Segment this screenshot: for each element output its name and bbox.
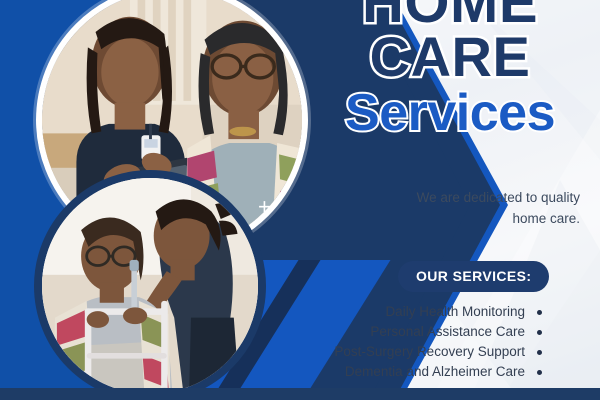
bottom-navy-bar	[0, 388, 600, 400]
headline-group: HOME CARE Services	[300, 0, 600, 139]
list-item: Dementia and Alzheimer Care	[280, 363, 542, 381]
service-label: Post-Surgery Recovery Support	[334, 342, 525, 363]
services-list: Daily Health Monitoring Personal Assista…	[280, 303, 542, 383]
caregiver-assisting-walker-image	[42, 178, 258, 394]
tagline-line-1: We are dedicated to quality	[312, 188, 580, 209]
service-label: Daily Health Monitoring	[385, 302, 525, 323]
list-item: Post-Surgery Recovery Support	[280, 343, 542, 361]
tagline: We are dedicated to quality home care.	[312, 188, 580, 230]
tagline-line-2: home care.	[312, 209, 580, 230]
our-services-badge: OUR SERVICES:	[398, 261, 549, 292]
bullet-dot-icon	[537, 350, 542, 355]
service-label: Personal Assistance Care	[370, 322, 525, 343]
headline-line-services: Services	[300, 87, 600, 139]
bullet-dot-icon	[537, 310, 542, 315]
list-item: Personal Assistance Care	[280, 323, 542, 341]
bullet-dot-icon	[537, 370, 542, 375]
headline-line-care: CARE	[300, 31, 600, 83]
list-item: Daily Health Monitoring	[280, 303, 542, 321]
poster-canvas: + HOME CARE Services We are dedicated to…	[0, 0, 600, 400]
plus-decoration-icon: +	[258, 196, 271, 218]
bullet-dot-icon	[537, 330, 542, 335]
service-label: Dementia and Alzheimer Care	[345, 362, 525, 383]
photo-circle-bottom	[34, 170, 266, 400]
